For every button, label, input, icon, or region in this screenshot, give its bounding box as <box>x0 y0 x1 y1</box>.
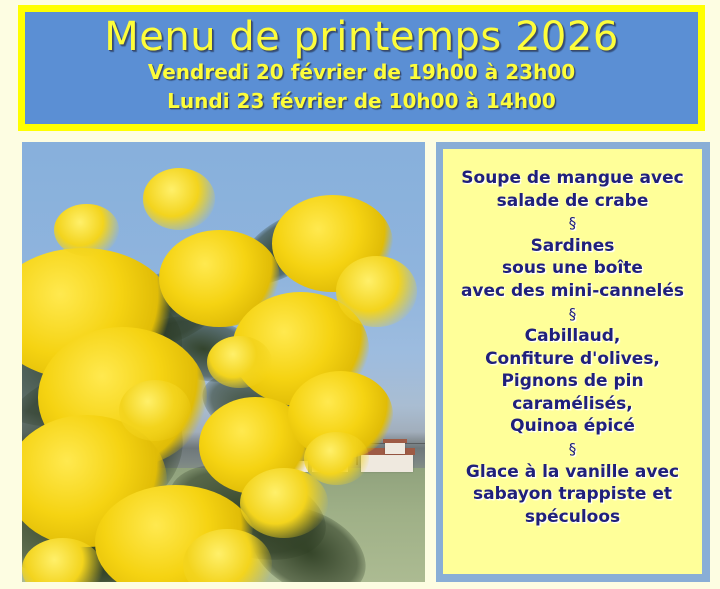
menu-line: spéculoos <box>525 506 620 529</box>
menu-panel: Soupe de mangue avec salade de crabe § S… <box>436 142 710 582</box>
menu-line: Sardines <box>531 235 615 258</box>
village-house <box>385 442 405 453</box>
menu-separator: § <box>569 303 577 326</box>
header-banner: Menu de printemps 2026 Vendredi 20 févri… <box>18 5 705 131</box>
menu-line: sabayon trappiste et <box>473 483 672 506</box>
mimosa-bloom <box>143 168 216 230</box>
header-subtitle-1: Vendredi 20 février de 19h00 à 23h00 <box>148 58 575 87</box>
menu-line: Quinoa épicé <box>510 415 635 438</box>
mimosa-bloom <box>207 336 271 389</box>
menu-line: sous une boîte <box>502 257 643 280</box>
page-title: Menu de printemps 2026 <box>104 16 619 58</box>
mimosa-bloom <box>119 380 192 442</box>
menu-line: Pignons de pin <box>501 370 643 393</box>
menu-line: avec des mini-cannelés <box>461 280 684 303</box>
village-roof <box>383 439 407 444</box>
header-subtitle-2: Lundi 23 février de 10h00 à 14h00 <box>167 87 556 116</box>
menu-separator: § <box>569 212 577 235</box>
menu-panel-inner: Soupe de mangue avec salade de crabe § S… <box>443 149 702 574</box>
menu-line: Confiture d'olives, <box>485 348 660 371</box>
menu-line: Soupe de mangue avec <box>461 167 683 190</box>
mimosa-bloom <box>304 432 368 485</box>
menu-line: Glace à la vanille avec <box>466 461 679 484</box>
menu-separator: § <box>569 438 577 461</box>
mimosa-bloom <box>336 256 417 326</box>
mimosa-bloom <box>54 204 118 257</box>
mimosa-photo-canvas <box>22 142 425 582</box>
header-banner-inner: Menu de printemps 2026 Vendredi 20 févri… <box>25 12 698 124</box>
menu-line: Cabillaud, <box>525 325 621 348</box>
mimosa-photo <box>22 142 425 582</box>
menu-line: caramélisés, <box>512 393 633 416</box>
menu-line: salade de crabe <box>497 190 649 213</box>
